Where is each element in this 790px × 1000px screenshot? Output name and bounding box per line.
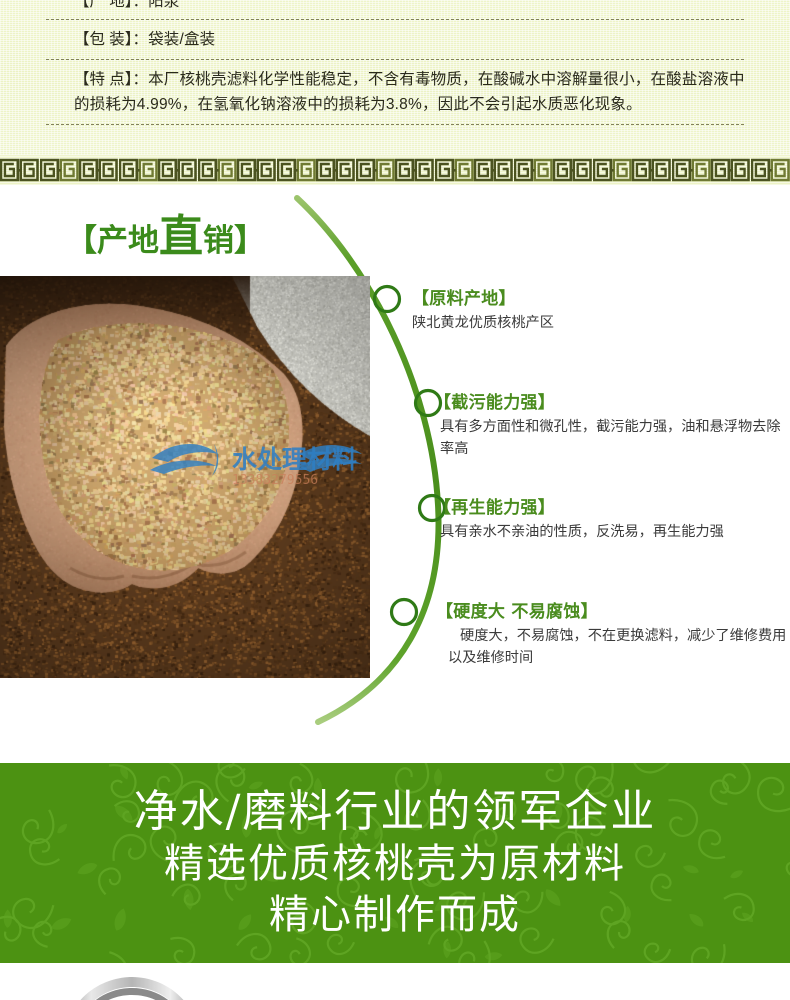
- greek-key-unit: [474, 157, 514, 183]
- feature-item-1-head: 【原料产地】: [412, 288, 790, 310]
- spec-row-features-label: 【特 点】：: [74, 71, 148, 88]
- feature-item-hardness-corrosion: 【硬度大 不易腐蚀】 硬度大，不易腐蚀，不在更换滤料，减少了维修费用以及维修时间: [428, 601, 790, 669]
- spec-panel: 【产 地】：阳泉 【包 装】：袋装/盒装 【特 点】：本厂核桃壳滤料化学性能稳定…: [0, 0, 790, 155]
- greek-key-unit: [79, 157, 119, 183]
- greek-key-unit: [316, 157, 356, 183]
- greek-key-unit: [395, 157, 435, 183]
- spec-row-origin-label: 【产 地】：: [74, 0, 148, 10]
- greek-key-unit: [277, 157, 317, 183]
- spec-row-packaging-label: 【包 装】：: [74, 31, 148, 48]
- greek-key-unit: [198, 157, 238, 183]
- spec-row-origin: 【产 地】：阳泉: [0, 0, 790, 12]
- greek-key-unit: [711, 157, 751, 183]
- greek-key-unit: [672, 157, 712, 183]
- greek-key-unit: [632, 157, 672, 183]
- spec-row-features-value: 本厂核桃壳滤料化学性能稳定，不含有毒物质，在酸碱水中溶解量很小，在酸盐溶液中的损…: [74, 71, 745, 113]
- greek-key-border-band: [0, 155, 790, 185]
- greek-key-unit: [356, 157, 396, 183]
- feature-item-regeneration: 【再生能力强】 具有亲水不亲油的性质，反洗易，再生能力强: [420, 497, 790, 543]
- slogan-line-3: 精心制作而成: [269, 890, 521, 941]
- slogan-banner: 净水/磨料行业的领军企业 精选优质核桃壳为原材料 精心制作而成: [0, 763, 790, 963]
- dashed-separator-3: [46, 124, 744, 125]
- feature-item-pollutant-interception: 【截污能力强】 具有多方面性和微孔性，截污能力强，油和悬浮物去除率高: [420, 392, 790, 460]
- feature-item-2-body: 具有多方面性和微孔性，截污能力强，油和悬浮物去除率高: [420, 416, 790, 460]
- feature-item-3-body: 具有亲水不亲油的性质，反洗易，再生能力强: [420, 521, 790, 543]
- greek-key-unit: [0, 157, 40, 183]
- greek-key-unit: [435, 157, 475, 183]
- greek-key-unit: [158, 157, 198, 183]
- bottom-strip: [0, 963, 790, 1000]
- page-title-emphasis: 直: [159, 211, 203, 262]
- feature-item-1-body: 陕北黄龙优质核桃产区: [412, 312, 790, 334]
- greek-key-unit: [237, 157, 277, 183]
- greek-key-unit: [514, 157, 554, 183]
- slogan-line-2: 精选优质核桃壳为原材料: [164, 839, 626, 890]
- greek-key-unit: [751, 157, 790, 183]
- feature-item-4-body: 硬度大，不易腐蚀，不在更换滤料，减少了维修费用以及维修时间: [428, 625, 790, 669]
- spec-row-features: 【特 点】：本厂核桃壳滤料化学性能稳定，不含有毒物质，在酸碱水中溶解量很小，在酸…: [0, 67, 790, 117]
- product-photo: 水处理材料 13383279556: [0, 276, 370, 678]
- greek-key-unit: [119, 157, 159, 183]
- slogan-line-1: 净水/磨料行业的领军企业: [134, 785, 657, 839]
- spec-row-origin-text: 【产 地】：阳泉: [74, 0, 750, 12]
- product-photo-canvas: [0, 276, 370, 678]
- feature-item-2-head: 【截污能力强】: [420, 392, 790, 414]
- greek-key-pattern-strip: [0, 157, 790, 183]
- spec-row-origin-value: 阳泉: [148, 0, 179, 10]
- page-title-origin-direct-sale: 【产地直销】: [66, 215, 265, 259]
- greek-key-unit: [553, 157, 593, 183]
- metal-pan-rim-partial-icon: [62, 975, 202, 1000]
- dashed-separator-1: [46, 19, 744, 20]
- greek-key-unit: [593, 157, 633, 183]
- greek-key-unit: [40, 157, 80, 183]
- feature-item-raw-material-origin: 【原料产地】 陕北黄龙优质核桃产区: [412, 288, 790, 334]
- slogan-text-group: 净水/磨料行业的领军企业 精选优质核桃壳为原材料 精心制作而成: [0, 763, 790, 963]
- spec-row-packaging: 【包 装】：袋装/盒装: [0, 27, 790, 52]
- page-title-suffix: 销】: [203, 223, 265, 259]
- feature-item-4-head: 【硬度大 不易腐蚀】: [428, 601, 790, 623]
- dashed-separator-2: [46, 59, 744, 60]
- spec-row-packaging-value: 袋装/盒装: [148, 31, 215, 48]
- page-title-prefix: 【产地: [66, 223, 159, 259]
- feature-item-3-head: 【再生能力强】: [420, 497, 790, 519]
